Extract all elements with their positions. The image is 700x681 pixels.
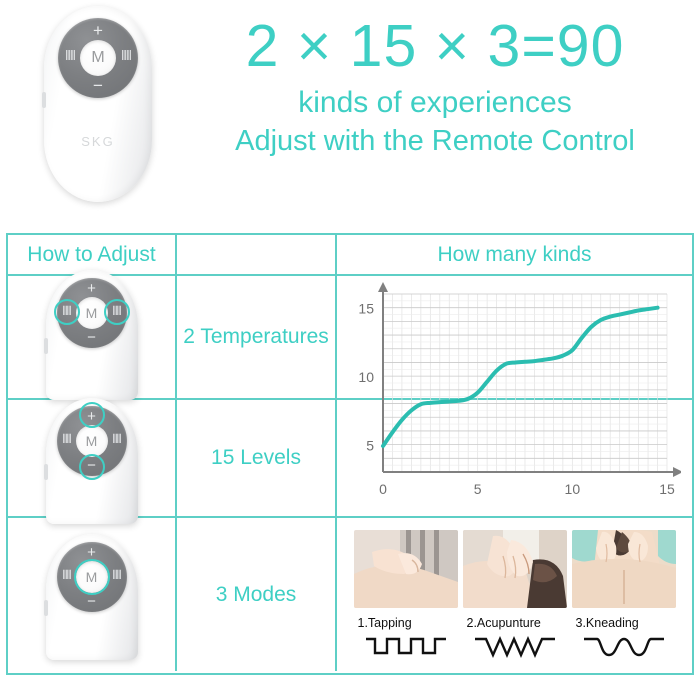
sine-wave-icon (572, 634, 676, 663)
mode-button[interactable]: M (76, 297, 108, 329)
mode-button-label: M (86, 433, 98, 449)
heat-wave-left-icon[interactable]: ⦀⦀ (59, 433, 75, 445)
heat-wave-left-icon[interactable]: ⦀⦀ (59, 569, 75, 581)
control-ring: M + − ⦀⦀ ⦀⦀ (57, 406, 127, 476)
kneading-photo-art (572, 530, 676, 608)
mode-item-acupuncture: 2.Acupunture (463, 530, 567, 663)
comparison-table: How to Adjust How many kinds M + (6, 233, 694, 675)
acupuncture-caption: 2.Acupunture (463, 616, 567, 630)
hero-subtitle-1: kinds of experiences (185, 86, 685, 120)
kneading-caption: 3.Kneading (572, 616, 676, 630)
plus-button-label: + (87, 280, 96, 297)
tapping-photo-art (354, 530, 458, 608)
minus-button[interactable]: − (57, 594, 127, 609)
massage-modes-strip: 1.Tapping (337, 518, 692, 671)
brand-logo: SKG (44, 134, 152, 149)
remote-side-button[interactable] (44, 464, 48, 480)
mode-button-label: M (91, 49, 104, 67)
remote-side-button[interactable] (42, 92, 46, 108)
heat-wave-left-icon[interactable]: ⦀⦀ (61, 49, 79, 62)
mode-button[interactable]: M (76, 425, 108, 457)
remote-control-temperatures: M + − ⦀⦀ ⦀⦀ (46, 270, 138, 400)
heat-wave-right-icon[interactable]: ⦀⦀ (117, 49, 135, 62)
minus-button-label: − (93, 76, 103, 95)
kneading-photo (572, 530, 676, 608)
chart-continuation-cell (337, 400, 692, 516)
acupuncture-photo (463, 530, 567, 608)
svg-text:15: 15 (358, 301, 374, 317)
row-label-temperatures: 2 Temperatures (183, 325, 329, 349)
plus-button[interactable]: + (57, 281, 127, 296)
heat-wave-left-icon[interactable]: ⦀⦀ (59, 305, 75, 317)
remote-side-button[interactable] (44, 600, 48, 616)
control-ring: M + − ⦀⦀ ⦀⦀ (58, 18, 138, 98)
header-cell-empty (177, 235, 337, 274)
header-label-how-to-adjust: How to Adjust (27, 243, 155, 267)
square-wave-icon (354, 634, 458, 663)
table-row: M + − ⦀⦀ ⦀⦀ 15 Levels (8, 398, 692, 516)
table-row: M + − ⦀⦀ ⦀⦀ 2 Temperatures (8, 274, 692, 398)
header-label-how-many-kinds: How many kinds (437, 243, 591, 267)
remote-control-modes: M + − ⦀⦀ ⦀⦀ (46, 534, 138, 660)
hero-subtitle-2: Adjust with the Remote Control (185, 125, 685, 158)
hero-banner: M + − ⦀⦀ ⦀⦀ SKG 2 × 15 × 3=90 kinds of e… (0, 0, 700, 228)
chart-cell: 51015051015 (337, 276, 692, 398)
remote-control-levels: M + − ⦀⦀ ⦀⦀ (46, 398, 138, 524)
mode-button[interactable]: M (80, 40, 116, 76)
equation-headline: 2 × 15 × 3=90 (185, 16, 685, 78)
modes-cell: 1.Tapping (337, 518, 692, 671)
plus-button-label: + (93, 21, 103, 40)
minus-button-label: − (87, 329, 96, 346)
minus-button-label: − (87, 457, 96, 474)
minus-button[interactable]: − (57, 458, 127, 473)
remote-control-hero: M + − ⦀⦀ ⦀⦀ SKG (44, 6, 152, 202)
hero-text-block: 2 × 15 × 3=90 kinds of experiences Adjus… (185, 16, 685, 158)
control-ring: M + − ⦀⦀ ⦀⦀ (57, 278, 127, 348)
label-cell-levels: 15 Levels (177, 400, 337, 516)
plus-button[interactable]: + (58, 22, 138, 39)
mode-button-label: M (86, 569, 98, 585)
mode-item-tapping: 1.Tapping (354, 530, 458, 663)
heat-wave-right-icon[interactable]: ⦀⦀ (109, 305, 125, 317)
remote-cell-levels: M + − ⦀⦀ ⦀⦀ (8, 400, 177, 516)
remote-side-button[interactable] (44, 338, 48, 354)
table-row: M + − ⦀⦀ ⦀⦀ 3 Modes (8, 516, 692, 671)
tapping-photo (354, 530, 458, 608)
plus-button-label: + (87, 544, 96, 561)
row-label-levels: 15 Levels (211, 446, 301, 470)
remote-cell-modes: M + − ⦀⦀ ⦀⦀ (8, 518, 177, 671)
plus-button[interactable]: + (57, 409, 127, 424)
table-header-row: How to Adjust How many kinds (8, 235, 692, 274)
triangle-wave-icon (463, 634, 567, 663)
label-cell-temperatures: 2 Temperatures (177, 276, 337, 398)
header-cell-how-many-kinds: How many kinds (337, 235, 692, 274)
mode-button-label: M (86, 305, 98, 321)
minus-button[interactable]: − (57, 330, 127, 345)
mode-button[interactable]: M (76, 561, 108, 593)
plus-button-label: + (87, 408, 96, 425)
acupuncture-photo-art (463, 530, 567, 608)
minus-button-label: − (87, 593, 96, 610)
heat-wave-right-icon[interactable]: ⦀⦀ (109, 433, 125, 445)
label-cell-modes: 3 Modes (177, 518, 337, 671)
plus-button[interactable]: + (57, 545, 127, 560)
svg-text:10: 10 (358, 369, 374, 385)
header-cell-how-to-adjust: How to Adjust (8, 235, 177, 274)
heat-wave-right-icon[interactable]: ⦀⦀ (109, 569, 125, 581)
row-label-modes: 3 Modes (216, 583, 297, 607)
remote-cell-temperatures: M + − ⦀⦀ ⦀⦀ (8, 276, 177, 398)
control-ring: M + − ⦀⦀ ⦀⦀ (57, 542, 127, 612)
mode-item-kneading: 3.Kneading (572, 530, 676, 663)
minus-button[interactable]: − (58, 77, 138, 94)
tapping-caption: 1.Tapping (354, 616, 458, 630)
